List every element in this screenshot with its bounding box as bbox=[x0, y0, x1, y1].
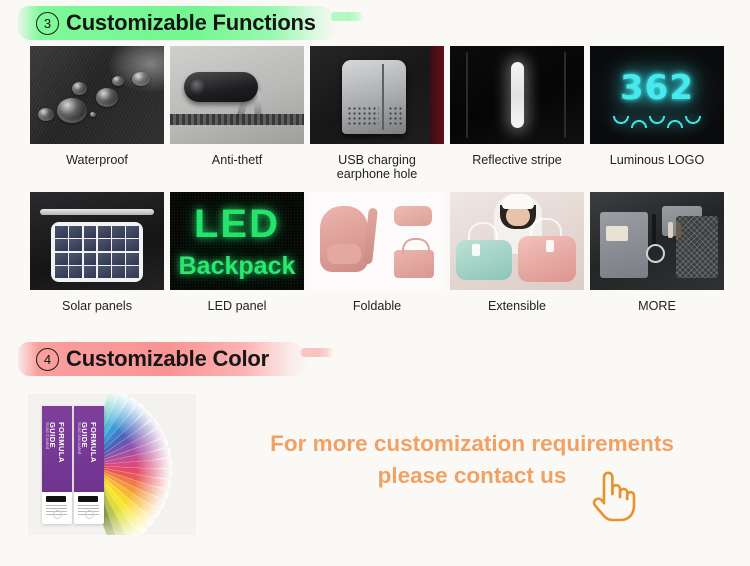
feature-label: USB charging earphone hole bbox=[310, 153, 444, 181]
functions-grid: Waterproof Anti-thetf bbox=[0, 0, 750, 330]
led-line2: Backpack bbox=[170, 252, 304, 281]
page-root: 3 Customizable Functions Waterproof bbox=[0, 0, 750, 566]
led-panel-artwork: LED Backpack bbox=[170, 192, 304, 290]
feature-label: Anti-thetf bbox=[170, 153, 304, 167]
feature-label-line1: Foldable bbox=[353, 299, 401, 313]
feature-label: Waterproof bbox=[30, 153, 164, 167]
feature-label-line1: Reflective stripe bbox=[472, 153, 562, 167]
feature-image-foldable bbox=[310, 192, 444, 290]
feature-label: Reflective stripe bbox=[450, 153, 584, 167]
led-line1: LED bbox=[170, 202, 304, 247]
feature-cell-foldable[interactable]: Foldable bbox=[310, 192, 444, 313]
feature-image-reflective bbox=[450, 46, 584, 144]
feature-cell-reflective[interactable]: Reflective stripe bbox=[450, 46, 584, 167]
feature-image-more bbox=[590, 192, 724, 290]
feature-image-anti-theft bbox=[170, 46, 304, 144]
section-number-badge: 4 bbox=[36, 348, 59, 371]
feature-label-line1: Anti-thetf bbox=[212, 153, 262, 167]
feature-label-line1: Waterproof bbox=[66, 153, 128, 167]
feature-label-line1: Solar panels bbox=[62, 299, 132, 313]
section-heading-color: 4 Customizable Color bbox=[18, 342, 308, 376]
pantone-brand-logo bbox=[46, 496, 66, 502]
feature-label: Luminous LOGO bbox=[590, 153, 724, 167]
feature-cell-led[interactable]: LED Backpack LED panel bbox=[170, 192, 304, 313]
feature-cell-extensible[interactable]: Extensible bbox=[450, 192, 584, 313]
feature-cell-waterproof[interactable]: Waterproof bbox=[30, 46, 164, 167]
feature-label-line1: MORE bbox=[638, 299, 676, 313]
pantone-fan-deck: Solid Coated FORMULA GUIDE Solid Uncoate… bbox=[28, 394, 196, 535]
pantone-swatch-image[interactable]: Solid Coated FORMULA GUIDE Solid Uncoate… bbox=[28, 394, 196, 535]
usb-port-artwork bbox=[310, 46, 444, 144]
interior-organizer-artwork bbox=[590, 192, 724, 290]
luminous-logo-artwork: 362 bbox=[590, 46, 724, 144]
section-heading-functions: 3 Customizable Functions bbox=[18, 6, 338, 40]
feature-cell-more[interactable]: MORE bbox=[590, 192, 724, 313]
pantone-guide-coated: Solid Coated FORMULA GUIDE bbox=[42, 406, 72, 524]
feature-image-extensible bbox=[450, 192, 584, 290]
feature-cell-anti-theft[interactable]: Anti-thetf bbox=[170, 46, 304, 167]
cta-line-1: For more customization requirements bbox=[270, 431, 674, 456]
feature-image-waterproof bbox=[30, 46, 164, 144]
feature-label: MORE bbox=[590, 299, 724, 313]
feature-label-line2: earphone hole bbox=[337, 167, 418, 181]
luminous-logo-wave bbox=[612, 116, 702, 128]
extensible-artwork bbox=[450, 192, 584, 290]
feature-cell-usb[interactable]: USB charging earphone hole bbox=[310, 46, 444, 181]
feature-label-line1: Extensible bbox=[488, 299, 546, 313]
feature-image-usb bbox=[310, 46, 444, 144]
feature-label-line1: USB charging bbox=[338, 153, 416, 167]
reflective-stripe-artwork bbox=[450, 46, 584, 144]
foldable-artwork bbox=[310, 192, 444, 290]
pointing-hand-icon[interactable] bbox=[584, 468, 636, 524]
feature-image-solar bbox=[30, 192, 164, 290]
feature-label: LED panel bbox=[170, 299, 304, 313]
pantone-brand-logo bbox=[78, 496, 98, 502]
luminous-logo-text: 362 bbox=[590, 68, 724, 108]
lock-artwork bbox=[170, 46, 304, 144]
feature-label-line1: LED panel bbox=[208, 299, 267, 313]
pantone-guide-uncoated: Solid Uncoated FORMULA GUIDE bbox=[74, 406, 104, 524]
feature-cell-solar[interactable]: Solar panels bbox=[30, 192, 164, 313]
section-number-badge: 3 bbox=[36, 12, 59, 35]
feature-label: Solar panels bbox=[30, 299, 164, 313]
contact-cta-text: For more customization requirements plea… bbox=[212, 428, 732, 492]
feature-label-line1: Luminous LOGO bbox=[610, 153, 705, 167]
feature-cell-luminous-logo[interactable]: 362 Luminous LOGO bbox=[590, 46, 724, 167]
feature-label: Extensible bbox=[450, 299, 584, 313]
section-title-color: Customizable Color bbox=[66, 346, 269, 372]
cta-line-2: please contact us bbox=[378, 463, 567, 488]
solar-panel-artwork bbox=[30, 192, 164, 290]
feature-image-led: LED Backpack bbox=[170, 192, 304, 290]
page-title: Customizable Functions bbox=[66, 10, 316, 36]
feature-label: Foldable bbox=[310, 299, 444, 313]
pantone-guide-title: FORMULA GUIDE bbox=[42, 422, 72, 484]
pantone-guide-title: FORMULA GUIDE bbox=[74, 422, 104, 484]
feature-image-luminous-logo: 362 bbox=[590, 46, 724, 144]
